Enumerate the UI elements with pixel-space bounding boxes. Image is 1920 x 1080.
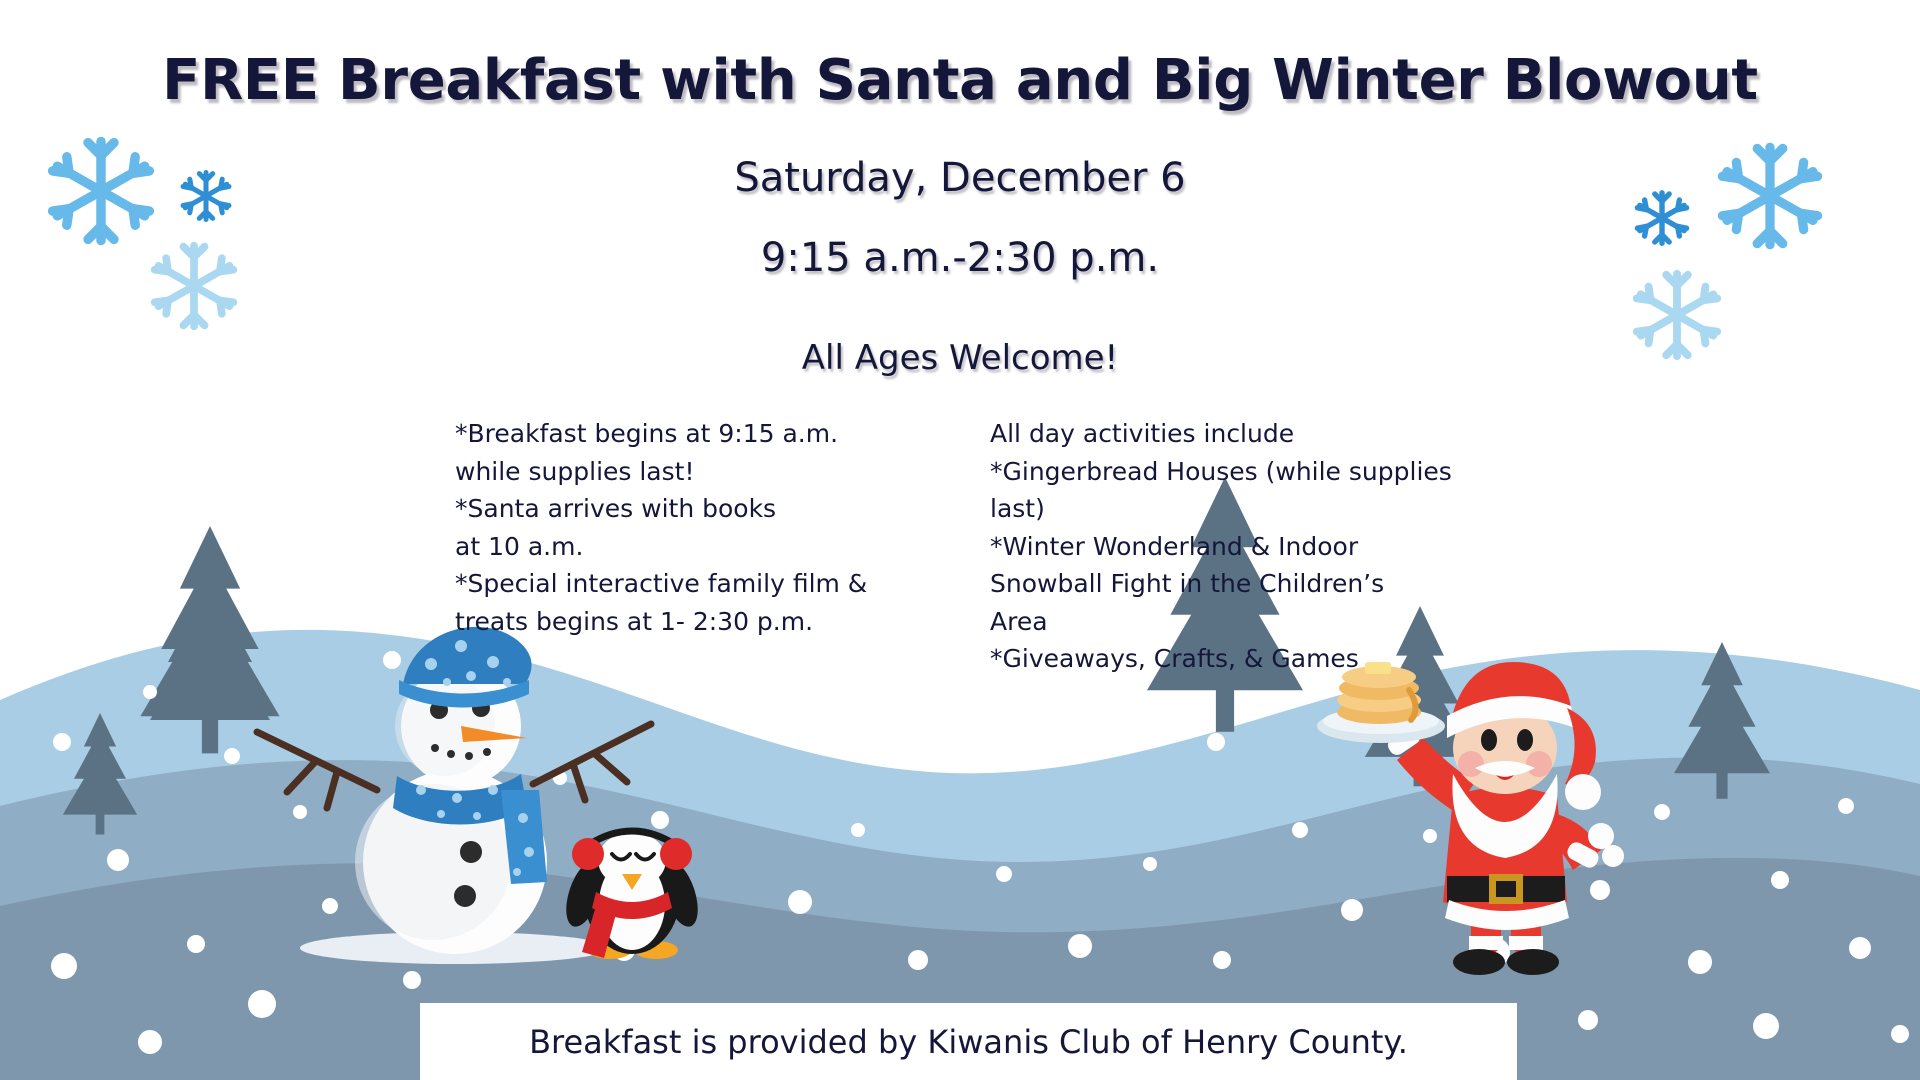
- activity-line: last): [990, 490, 1490, 528]
- activity-line: *Winter Wonderland & Indoor: [990, 528, 1490, 566]
- activities-column: All day activities include *Gingerbread …: [990, 415, 1490, 678]
- all-ages-welcome: All Ages Welcome!: [0, 338, 1920, 378]
- schedule-line: *Breakfast begins at 9:15 a.m.: [455, 415, 925, 453]
- sponsor-banner: Breakfast is provided by Kiwanis Club of…: [420, 1003, 1517, 1080]
- event-time: 9:15 a.m.-2:30 p.m.: [0, 235, 1920, 281]
- event-title: FREE Breakfast with Santa and Big Winter…: [0, 52, 1920, 111]
- schedule-line: treats begins at 1- 2:30 p.m.: [455, 603, 925, 641]
- activity-line: All day activities include: [990, 415, 1490, 453]
- event-date: Saturday, December 6: [0, 155, 1920, 201]
- schedule-line: *Santa arrives with books: [455, 490, 925, 528]
- activity-line: *Giveaways, Crafts, & Games: [990, 640, 1490, 678]
- schedule-line: while supplies last!: [455, 453, 925, 491]
- event-flyer: FREE Breakfast with Santa and Big Winter…: [0, 0, 1920, 1080]
- schedule-details-column: *Breakfast begins at 9:15 a.m. while sup…: [455, 415, 925, 640]
- sponsor-text: Breakfast is provided by Kiwanis Club of…: [529, 1023, 1408, 1061]
- activity-line: Snowball Fight in the Children’s: [990, 565, 1490, 603]
- schedule-line: at 10 a.m.: [455, 528, 925, 566]
- schedule-line: *Special interactive family film &: [455, 565, 925, 603]
- activity-line: Area: [990, 603, 1490, 641]
- activity-line: *Gingerbread Houses (while supplies: [990, 453, 1490, 491]
